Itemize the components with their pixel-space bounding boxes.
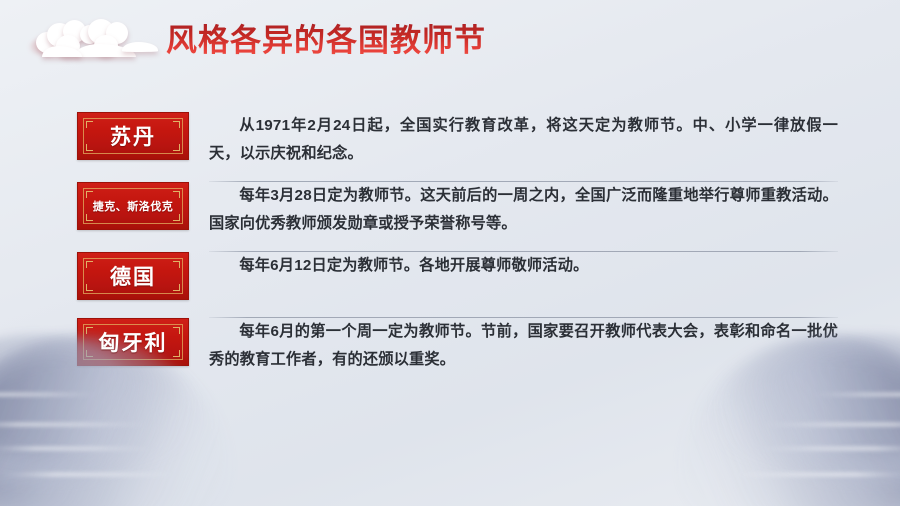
slide-canvas: 风格各异的各国教师节 苏丹 从1971年2月24日起，全国实行教育改革，将这天定… (0, 0, 900, 506)
badge-corner-icon (173, 284, 180, 291)
country-label: 捷克、斯洛伐克 (93, 198, 174, 214)
badge-corner-icon (173, 327, 180, 334)
badge-corner-icon (86, 284, 93, 291)
badge-corner-icon (86, 261, 93, 268)
badge-corner-icon (173, 261, 180, 268)
cloud-motif-icon (30, 16, 160, 64)
slide-header: 风格各异的各国教师节 (0, 0, 900, 86)
page-title: 风格各异的各国教师节 (166, 20, 486, 62)
entry-body: 从1971年2月24日起，全国实行教育改革，将这天定为教师节。中、小学一律放假一… (209, 112, 838, 182)
ink-streak (0, 393, 100, 396)
list-item: 匈牙利 每年6月的第一个周一定为教师节。节前，国家要召开教师代表大会，表彰和命名… (0, 318, 900, 388)
country-label: 苏丹 (110, 121, 156, 151)
badge-corner-icon (173, 144, 180, 151)
ink-streak (760, 423, 900, 426)
badge-corner-icon (86, 121, 93, 128)
ink-streak (756, 447, 900, 450)
country-badge-germany[interactable]: 德国 (77, 252, 189, 300)
entry-body: 每年3月28日定为教师节。这天前后的一周之内，全国广泛而隆重地举行尊师重教活动。… (209, 182, 838, 252)
badge-corner-icon (173, 350, 180, 357)
cloud-tail (122, 42, 158, 52)
badge-corner-icon (173, 191, 180, 198)
ink-streak (0, 423, 150, 426)
list-item: 捷克、斯洛伐克 每年3月28日定为教师节。这天前后的一周之内，全国广泛而隆重地举… (0, 182, 900, 252)
badge-corner-icon (173, 214, 180, 221)
badge-corner-icon (173, 121, 180, 128)
entry-body: 每年6月的第一个周一定为教师节。节前，国家要召开教师代表大会，表彰和命名一批优秀… (209, 318, 838, 388)
entry-text: 每年6月的第一个周一定为教师节。节前，国家要召开教师代表大会，表彰和命名一批优秀… (209, 318, 838, 374)
entry-body: 每年6月12日定为教师节。各地开展尊师敬师活动。 (209, 252, 838, 318)
country-label: 德国 (110, 261, 156, 291)
country-label: 匈牙利 (99, 327, 168, 357)
ink-streak (0, 473, 180, 476)
entry-list: 苏丹 从1971年2月24日起，全国实行教育改革，将这天定为教师节。中、小学一律… (0, 112, 900, 388)
country-badge-czech-slovakia[interactable]: 捷克、斯洛伐克 (77, 182, 189, 230)
entry-text: 从1971年2月24日起，全国实行教育改革，将这天定为教师节。中、小学一律放假一… (209, 112, 838, 168)
entry-text: 每年6月12日定为教师节。各地开展尊师敬师活动。 (209, 252, 838, 280)
badge-corner-icon (86, 191, 93, 198)
list-item: 德国 每年6月12日定为教师节。各地开展尊师敬师活动。 (0, 252, 900, 318)
badge-corner-icon (86, 214, 93, 221)
country-badge-sudan[interactable]: 苏丹 (77, 112, 189, 160)
entry-text: 每年3月28日定为教师节。这天前后的一周之内，全国广泛而隆重地举行尊师重教活动。… (209, 182, 838, 238)
badge-corner-icon (86, 144, 93, 151)
badge-corner-icon (86, 350, 93, 357)
country-badge-hungary[interactable]: 匈牙利 (77, 318, 189, 366)
ink-streak (0, 447, 154, 450)
ink-streak (810, 393, 900, 396)
ink-streak (730, 473, 900, 476)
list-item: 苏丹 从1971年2月24日起，全国实行教育改革，将这天定为教师节。中、小学一律… (0, 112, 900, 182)
badge-corner-icon (86, 327, 93, 334)
